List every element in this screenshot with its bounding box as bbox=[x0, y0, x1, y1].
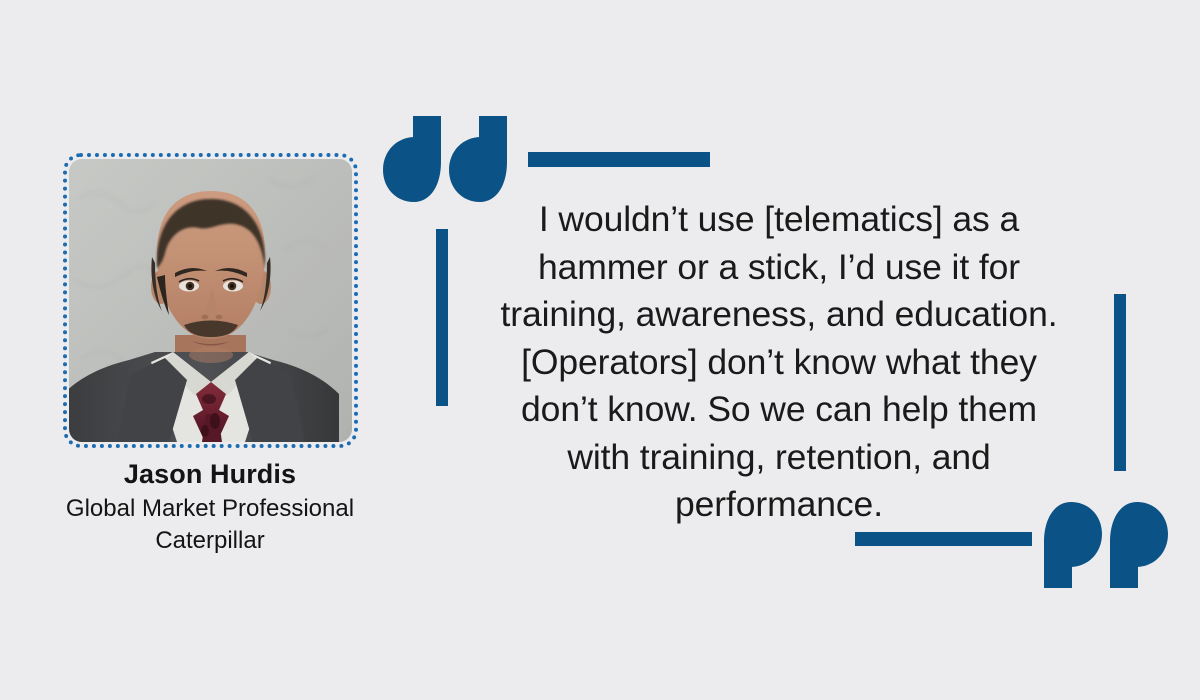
portrait-block bbox=[63, 153, 358, 448]
attribution-block: Jason Hurdis Global Market Professional … bbox=[0, 458, 420, 557]
quote-slide: Jason Hurdis Global Market Professional … bbox=[0, 0, 1200, 700]
open-quote-icon bbox=[383, 116, 513, 202]
accent-bar-bottom bbox=[855, 532, 1032, 546]
accent-bar-top bbox=[528, 152, 710, 167]
quote-text: I wouldn’t use [telematics] as a hammer … bbox=[455, 196, 1103, 529]
accent-bar-right bbox=[1114, 294, 1126, 471]
person-name: Jason Hurdis bbox=[0, 458, 420, 490]
portrait-dotted-frame bbox=[63, 153, 358, 448]
person-role: Global Market Professional bbox=[0, 493, 420, 525]
person-company: Caterpillar bbox=[0, 525, 420, 557]
accent-bar-left bbox=[436, 229, 448, 406]
